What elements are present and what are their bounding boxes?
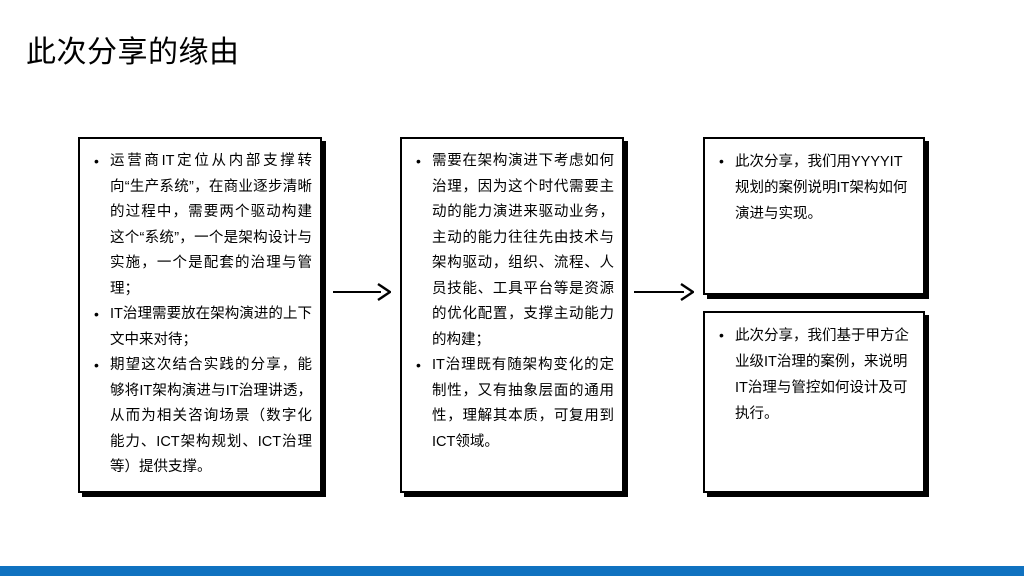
content-box-4[interactable]: 此次分享，我们基于甲方企业级IT治理的案例，来说明IT治理与管控如何设计及可执行… [703, 311, 925, 493]
content-box-2-body: 需要在架构演进下考虑如何治理，因为这个时代需要主动的能力演进来驱动业务，主动的能… [402, 139, 622, 491]
bullet-list: 需要在架构演进下考虑如何治理，因为这个时代需要主动的能力演进来驱动业务，主动的能… [412, 149, 614, 455]
list-item: 此次分享，我们用YYYYIT规划的案例说明IT架构如何演进与实现。 [715, 149, 915, 227]
list-item: 需要在架构演进下考虑如何治理，因为这个时代需要主动的能力演进来驱动业务，主动的能… [412, 149, 614, 353]
list-item: IT治理需要放在架构演进的上下文中来对待； [90, 302, 312, 353]
page-title: 此次分享的缘由 [26, 33, 240, 73]
list-item: 此次分享，我们基于甲方企业级IT治理的案例，来说明IT治理与管控如何设计及可执行… [715, 323, 915, 427]
content-box-1[interactable]: 运营商IT定位从内部支撑转向“生产系统”，在商业逐步清晰的过程中，需要两个驱动构… [78, 137, 322, 493]
bullet-list: 运营商IT定位从内部支撑转向“生产系统”，在商业逐步清晰的过程中，需要两个驱动构… [90, 149, 312, 481]
list-item: 期望这次结合实践的分享，能够将IT架构演进与IT治理讲透，从而为相关咨询场景（数… [90, 353, 312, 481]
footer-accent-bar [0, 566, 1024, 576]
list-item: 运营商IT定位从内部支撑转向“生产系统”，在商业逐步清晰的过程中，需要两个驱动构… [90, 149, 312, 302]
content-box-3-body: 此次分享，我们用YYYYIT规划的案例说明IT架构如何演进与实现。 [705, 139, 923, 293]
bullet-list: 此次分享，我们用YYYYIT规划的案例说明IT架构如何演进与实现。 [715, 149, 915, 227]
list-item: IT治理既有随架构变化的定制性，又有抽象层面的通用性，理解其本质，可复用到ICT… [412, 353, 614, 455]
bullet-list: 此次分享，我们基于甲方企业级IT治理的案例，来说明IT治理与管控如何设计及可执行… [715, 323, 915, 427]
arrow-right-icon [333, 281, 391, 303]
content-box-3[interactable]: 此次分享，我们用YYYYIT规划的案例说明IT架构如何演进与实现。 [703, 137, 925, 295]
content-box-4-body: 此次分享，我们基于甲方企业级IT治理的案例，来说明IT治理与管控如何设计及可执行… [705, 313, 923, 491]
slide-canvas: 此次分享的缘由 运营商IT定位从内部支撑转向“生产系统”，在商业逐步清晰的过程中… [0, 0, 1024, 576]
content-box-1-body: 运营商IT定位从内部支撑转向“生产系统”，在商业逐步清晰的过程中，需要两个驱动构… [80, 139, 320, 491]
content-box-2[interactable]: 需要在架构演进下考虑如何治理，因为这个时代需要主动的能力演进来驱动业务，主动的能… [400, 137, 624, 493]
arrow-right-icon [634, 281, 694, 303]
